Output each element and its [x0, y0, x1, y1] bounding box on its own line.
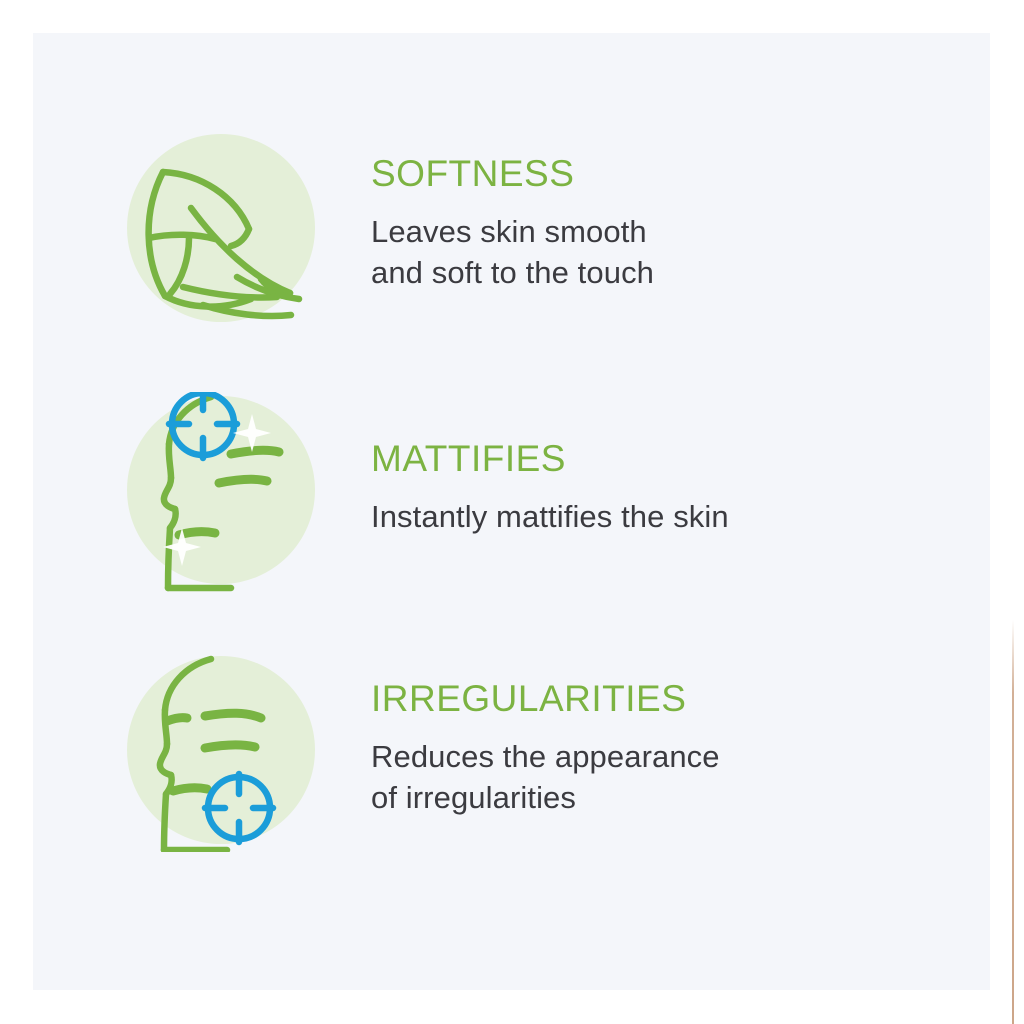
benefit-description: Leaves skin smooth and soft to the touch [371, 212, 1024, 294]
benefit-title: IRREGULARITIES [371, 680, 1024, 717]
benefit-text-mattifies: MATTIFIES Instantly mattifies the skin [371, 392, 1024, 538]
benefit-description: Reduces the appearance of irregularities [371, 737, 1024, 819]
face-profile-cheek-target-icon [127, 652, 319, 852]
benefit-title: MATTIFIES [371, 440, 1024, 477]
benefit-text-softness: SOFTNESS Leaves skin smooth and soft to … [371, 133, 1024, 294]
benefits-infographic: SOFTNESS Leaves skin smooth and soft to … [0, 0, 1024, 1024]
benefit-item-softness: SOFTNESS Leaves skin smooth and soft to … [0, 133, 1024, 333]
benefit-item-irregularities: IRREGULARITIES Reduces the appearance of… [0, 652, 1024, 852]
benefit-description: Instantly mattifies the skin [371, 497, 1024, 538]
benefit-title: SOFTNESS [371, 155, 1024, 192]
benefit-text-irregularities: IRREGULARITIES Reduces the appearance of… [371, 652, 1024, 819]
benefits-list: SOFTNESS Leaves skin smooth and soft to … [0, 0, 1024, 1024]
benefit-item-mattifies: MATTIFIES Instantly mattifies the skin [0, 392, 1024, 592]
face-profile-forehead-target-icon [127, 392, 319, 592]
feather-leaf-icon [127, 133, 319, 333]
